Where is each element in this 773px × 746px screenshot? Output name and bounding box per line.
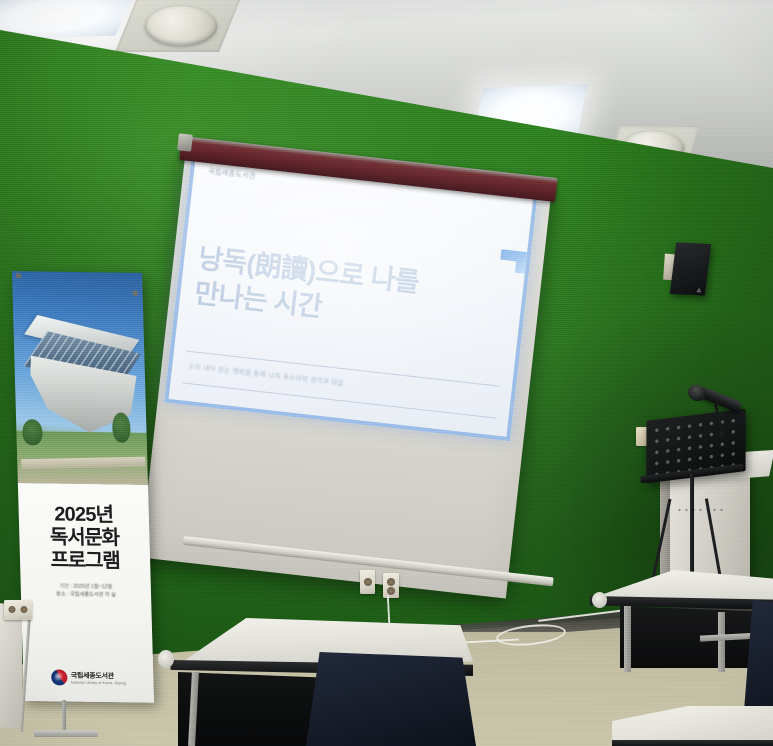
banner-building-photo [12, 271, 148, 485]
library-logo: 국립세종도서관 National Library of Korea, Sejon… [23, 669, 154, 687]
banner-title-line-2: 독서문화 [19, 526, 150, 551]
music-stand-pole [690, 474, 694, 578]
side-cabinet [0, 603, 22, 729]
screen-roller-endcap [177, 133, 193, 151]
table-fold-knob[interactable] [158, 650, 174, 668]
recessed-ceiling-speaker-icon [145, 6, 217, 46]
outlet-socket-icon [387, 587, 395, 595]
banner-clip-icon [16, 273, 21, 278]
folding-table-leg [624, 606, 631, 672]
folding-table-leg [718, 612, 725, 672]
projection-screen[interactable]: 국립세종도서관 낭독(朗讀)으로 나를 만나는 시간 소리 내어 읽는 행위를 … [182, 136, 560, 566]
wall-switch-plate[interactable] [636, 427, 647, 446]
tree-icon [22, 419, 43, 445]
wall-outlet-plate[interactable] [4, 600, 32, 620]
folding-table-edge [612, 740, 773, 746]
logo-text-block: 국립세종도서관 National Library of Korea, Sejon… [71, 671, 126, 686]
banner-meta-location: 장소 : 국립세종도서관 각 실 [21, 590, 151, 600]
banner-text-panel: 2025년 독서문화 프로그램 기간 : 2025년 1월~12월 장소 : 국… [18, 483, 154, 703]
banner-pole [62, 700, 66, 734]
tree-icon [112, 412, 131, 442]
banner-title-line-3: 프로그램 [20, 549, 151, 574]
slide-title: 낭독(朗讀)으로 나를 만나는 시간 [192, 241, 510, 346]
speaker-brand-icon [696, 287, 702, 292]
outlet-socket-icon [21, 606, 28, 613]
outlet-socket-icon [387, 578, 395, 586]
outlet-socket-icon [9, 606, 16, 613]
navy-stacking-chair[interactable] [306, 652, 476, 746]
wall-mounted-speaker [670, 242, 711, 295]
logo-english-name: National Library of Korea, Sejong [71, 681, 126, 686]
slide-corner-accent-icon [499, 249, 527, 274]
taegeuk-emblem-icon [51, 669, 67, 685]
banner-year: 2025년 [18, 497, 149, 528]
wall-outlet-plate[interactable] [360, 570, 375, 594]
banner-meta: 기간 : 2025년 1월~12월 장소 : 국립세종도서관 각 실 [21, 582, 152, 600]
slide-subtitle: 소리 내어 읽는 행위를 통해 나의 목소리와 생각과 마음 [188, 360, 487, 403]
banner-base-foot [34, 730, 98, 737]
room-photo-scene: 국립세종도서관 낭독(朗讀)으로 나를 만나는 시간 소리 내어 읽는 행위를 … [0, 0, 773, 746]
outlet-socket-icon [364, 578, 372, 586]
roll-up-banner: 2025년 독서문화 프로그램 기간 : 2025년 1월~12월 장소 : 국… [12, 271, 154, 703]
table-fold-knob[interactable] [592, 592, 607, 608]
projected-slide: 국립세종도서관 낭독(朗讀)으로 나를 만나는 시간 소리 내어 읽는 행위를 … [164, 154, 538, 441]
slide-header-text: 국립세종도서관 [208, 166, 257, 181]
banner-clip-icon [133, 291, 138, 296]
lectern-vent-icon [676, 508, 724, 512]
